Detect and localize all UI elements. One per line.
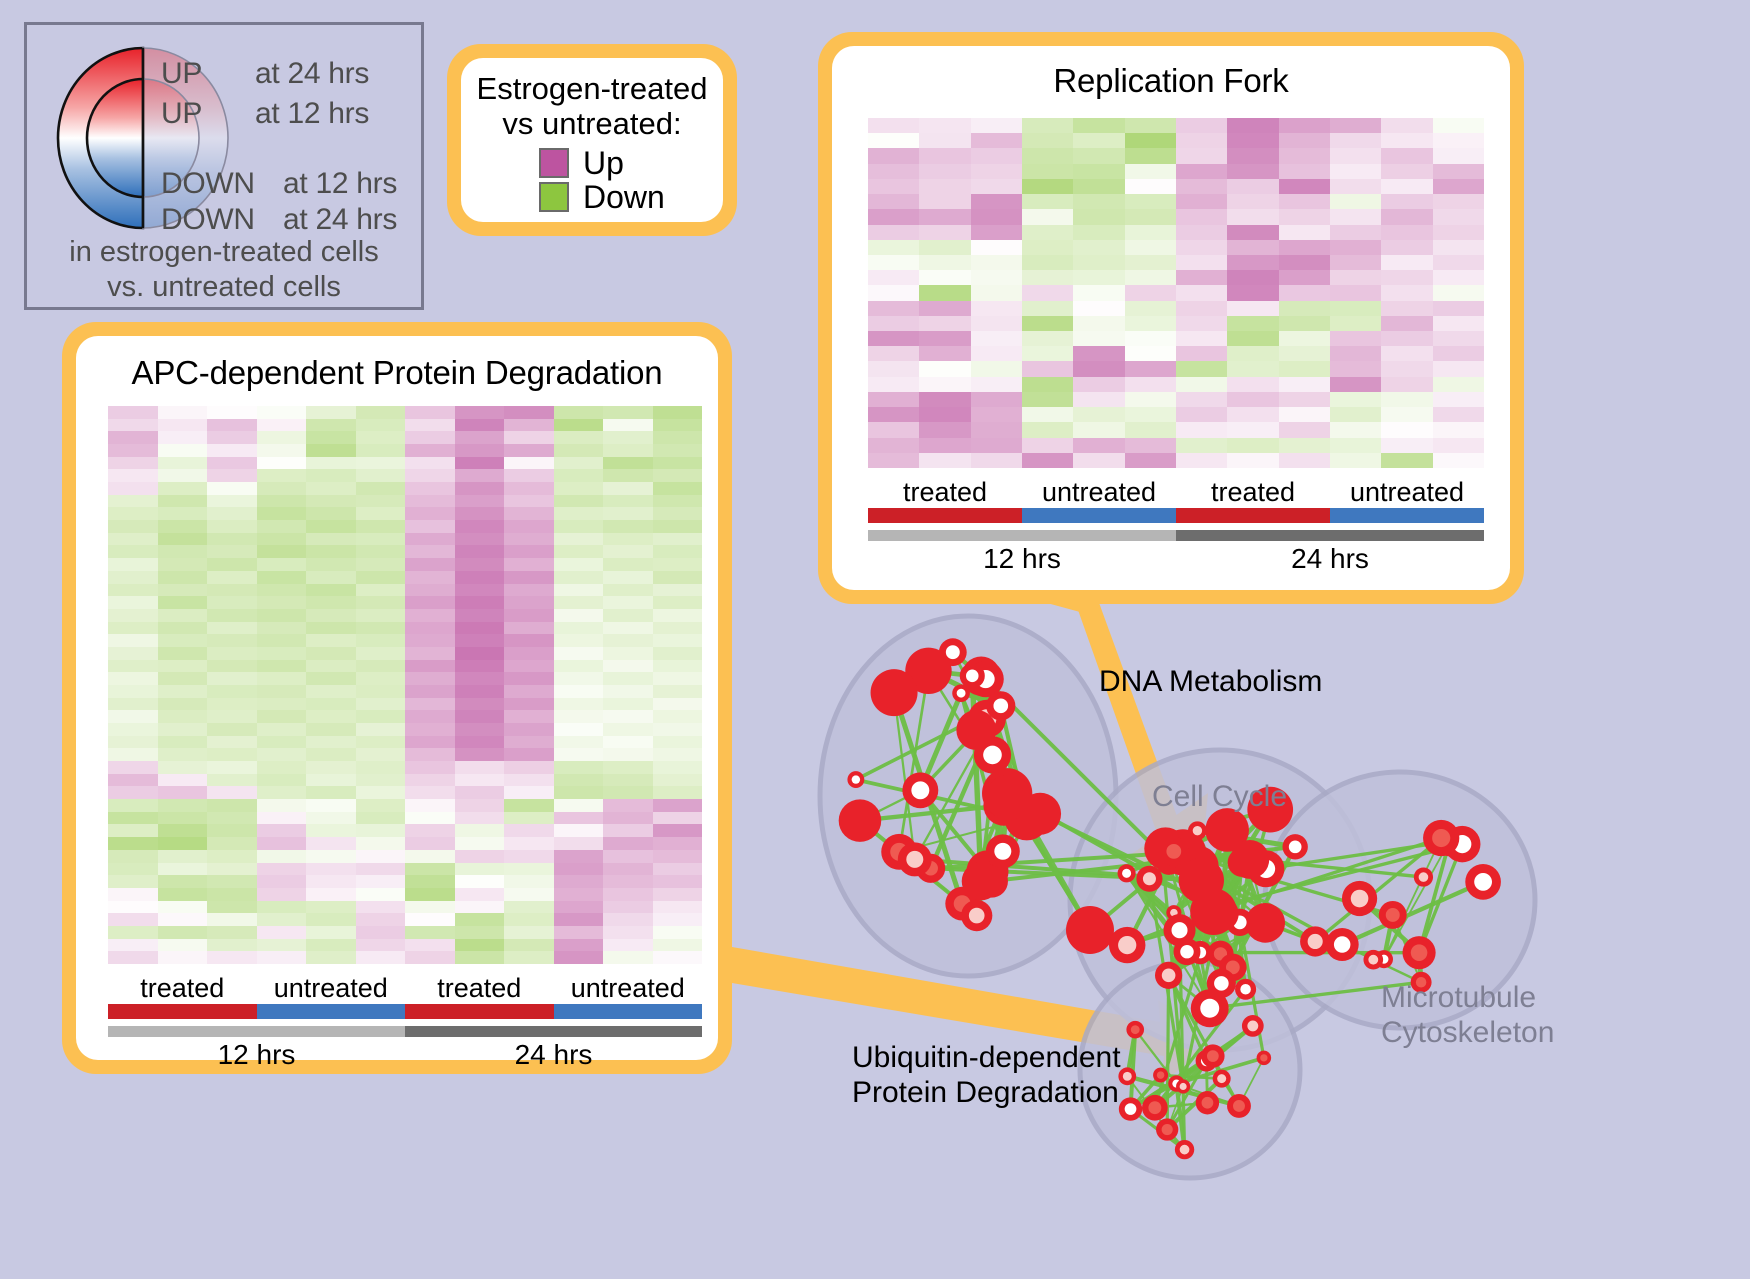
heatmap-cell: [108, 672, 158, 685]
heatmap-cell: [207, 406, 257, 419]
heatmap-cell: [207, 913, 257, 926]
heatmap-cell: [504, 672, 554, 685]
heatmap-cell: [1125, 164, 1176, 179]
heatmap-cell: [1279, 240, 1330, 255]
network-node[interactable]: [1207, 969, 1236, 998]
network-node[interactable]: [1230, 840, 1269, 879]
heatmap-cell: [1381, 377, 1432, 392]
legend-items: Up Down: [471, 147, 713, 213]
heatmap-cell: [971, 270, 1022, 285]
network-node[interactable]: [960, 663, 985, 688]
heatmap-cell: [1125, 407, 1176, 422]
heatmap-cell: [108, 888, 158, 901]
heatmap-cell: [1433, 438, 1484, 453]
heatmap-cell: [1176, 118, 1227, 133]
heatmap-cell: [1279, 270, 1330, 285]
heatmap-cell: [554, 533, 604, 546]
node-inner-core: [966, 670, 979, 683]
heatmap-cell: [1073, 407, 1124, 422]
heatmap-cell: [356, 457, 406, 470]
heatmap-cell: [504, 622, 554, 635]
heatmap-cell: [1433, 179, 1484, 194]
network-node[interactable]: [1119, 1097, 1142, 1120]
heatmap-cell: [603, 495, 653, 508]
network-node[interactable]: [1342, 881, 1377, 916]
heatmap-cell: [455, 710, 505, 723]
heatmap-cell: [108, 723, 158, 736]
legend-item-down-label: Down: [583, 181, 665, 213]
heatmap-cell: [1330, 285, 1381, 300]
heatmap-cell: [405, 507, 455, 520]
node-inner-core: [1233, 1100, 1245, 1112]
heatmap-cell: [455, 837, 505, 850]
network-node[interactable]: [1175, 1140, 1194, 1159]
time-label-24hrs: 24 hrs: [405, 1039, 702, 1071]
heatmap-cell: [1227, 148, 1278, 163]
heatmap-cell: [1073, 438, 1124, 453]
network-node[interactable]: [1402, 936, 1435, 969]
node-inner-core: [1193, 826, 1202, 835]
network-node[interactable]: [839, 799, 882, 842]
heatmap-cell: [1227, 179, 1278, 194]
heatmap-cell: [1227, 407, 1278, 422]
heatmap-cell: [158, 698, 208, 711]
heatmap-cell: [356, 520, 406, 533]
heatmap-cell: [158, 672, 208, 685]
replication-fork-condition-bars: [868, 508, 1484, 523]
node-inner-core: [1214, 976, 1229, 991]
heatmap-cell: [1227, 270, 1278, 285]
heatmap-cell: [405, 482, 455, 495]
network-node[interactable]: [1156, 1118, 1178, 1140]
heatmap-cell: [1381, 255, 1432, 270]
heatmap-cell: [919, 407, 970, 422]
node-outer-ring: [1019, 793, 1061, 835]
heatmap-cell: [554, 913, 604, 926]
heatmap-cell: [108, 584, 158, 597]
heatmap-cell: [1176, 270, 1227, 285]
heatmap-cell: [158, 939, 208, 952]
heatmap-cell: [257, 812, 307, 825]
heatmap-cell: [356, 622, 406, 635]
network-node[interactable]: [961, 900, 992, 931]
heatmap-cell: [1279, 392, 1330, 407]
heatmap-cell: [504, 812, 554, 825]
heatmap-cell: [356, 495, 406, 508]
heatmap-cell: [306, 736, 356, 749]
heatmap-cell: [405, 596, 455, 609]
heatmap-cell: [306, 850, 356, 863]
network-node[interactable]: [847, 771, 864, 788]
heatmap-cell: [504, 761, 554, 774]
heatmap-cell: [1125, 377, 1176, 392]
network-node[interactable]: [1363, 950, 1383, 970]
heatmap-cell: [1073, 285, 1124, 300]
heatmap-cell: [971, 377, 1022, 392]
heatmap-cell: [207, 507, 257, 520]
heatmap-cell: [554, 812, 604, 825]
heatmap-cell: [356, 710, 406, 723]
node-inner-core: [1157, 1071, 1165, 1079]
heatmap-cell: [504, 584, 554, 597]
network-node[interactable]: [1159, 837, 1189, 867]
heatmap-cell: [1073, 133, 1124, 148]
heatmap-cell: [108, 698, 158, 711]
heatmap-cell: [653, 901, 703, 914]
heatmap-cell: [306, 901, 356, 914]
network-node[interactable]: [1126, 1021, 1144, 1039]
heatmap-cell: [356, 913, 406, 926]
heatmap-cell: [306, 863, 356, 876]
heatmap-cell: [356, 698, 406, 711]
network-node[interactable]: [1379, 901, 1407, 929]
heatmap-cell: [919, 270, 970, 285]
heatmap-cell: [158, 926, 208, 939]
network-node[interactable]: [1163, 914, 1195, 946]
legend-item-up-label: Up: [583, 147, 624, 179]
heatmap-cell: [1279, 148, 1330, 163]
heatmap-cell: [868, 179, 919, 194]
heatmap-cell: [653, 761, 703, 774]
network-node[interactable]: [1201, 1044, 1224, 1067]
heatmap-cell: [108, 419, 158, 432]
network-node[interactable]: [1188, 821, 1207, 840]
network-node[interactable]: [902, 772, 938, 808]
heatmap-cell: [1279, 438, 1330, 453]
heatmap-cell: [306, 419, 356, 432]
heatmap-cell: [108, 812, 158, 825]
network-node[interactable]: [1423, 820, 1459, 856]
node-inner-core: [1386, 908, 1400, 922]
network-node[interactable]: [1153, 1068, 1168, 1083]
heatmap-cell: [1279, 164, 1330, 179]
heatmap-cell: [1330, 118, 1381, 133]
heatmap-cell: [554, 863, 604, 876]
heatmap-cell: [306, 748, 356, 761]
heatmap-cell: [306, 431, 356, 444]
heatmap-cell: [455, 748, 505, 761]
heatmap-cell: [504, 596, 554, 609]
heatmap-cell: [158, 431, 208, 444]
heatmap-cell: [653, 939, 703, 952]
heatmap-cell: [603, 786, 653, 799]
heatmap-cell: [108, 761, 158, 774]
network-node[interactable]: [1179, 858, 1224, 903]
heatmap-cell: [257, 419, 307, 432]
heatmap-cell: [108, 660, 158, 673]
heatmap-cell: [257, 951, 307, 964]
heatmap-cell: [207, 469, 257, 482]
network-node[interactable]: [1109, 927, 1145, 963]
heatmap-cell: [405, 901, 455, 914]
apc-condition-labels: treated untreated treated untreated: [108, 974, 702, 1004]
network-node[interactable]: [1282, 834, 1307, 859]
heatmap-cell: [356, 672, 406, 685]
heatmap-cell: [554, 901, 604, 914]
network-node[interactable]: [1136, 866, 1162, 892]
condition-bar-treated-24: [1176, 508, 1330, 523]
heatmap-cell: [108, 939, 158, 952]
heatmap-cell: [554, 888, 604, 901]
heatmap-cell: [504, 444, 554, 457]
heatmap-cell: [405, 457, 455, 470]
heatmap-cell: [971, 361, 1022, 376]
network-node[interactable]: [986, 834, 1020, 868]
network-node[interactable]: [1235, 979, 1256, 1000]
heatmap-cell: [207, 444, 257, 457]
heatmap-cell: [603, 951, 653, 964]
heatmap-cell: [1381, 240, 1432, 255]
heatmap-cell: [306, 774, 356, 787]
network-node[interactable]: [1196, 1091, 1219, 1114]
heatmap-cell: [207, 571, 257, 584]
apc-time-labels: 12 hrs 24 hrs: [108, 1039, 702, 1071]
heatmap-cell: [405, 850, 455, 863]
heatmap-cell: [554, 469, 604, 482]
heatmap-cell: [504, 723, 554, 736]
heatmap-cell: [405, 837, 455, 850]
heatmap-cell: [504, 774, 554, 787]
node-inner-core: [1368, 955, 1378, 965]
network-node[interactable]: [1257, 1051, 1272, 1066]
node-inner-core: [1118, 936, 1136, 954]
heatmap-cell: [504, 875, 554, 888]
heatmap-cell: [971, 285, 1022, 300]
heatmap-cell: [356, 647, 406, 660]
node-inner-core: [1180, 945, 1193, 958]
network-node[interactable]: [1176, 1079, 1190, 1093]
network-node[interactable]: [1142, 1095, 1168, 1121]
heatmap-cell: [1433, 225, 1484, 240]
heatmap-cell: [158, 837, 208, 850]
network-node[interactable]: [1227, 1094, 1251, 1118]
heatmap-cell: [1073, 331, 1124, 346]
heatmap-cell: [504, 901, 554, 914]
replication-fork-time-labels: 12 hrs 24 hrs: [868, 543, 1484, 575]
heatmap-cell: [1227, 133, 1278, 148]
heatmap-cell: [257, 901, 307, 914]
heatmap-cell: [1330, 331, 1381, 346]
heatmap-cell: [1176, 346, 1227, 361]
heatmap-cell: [1381, 392, 1432, 407]
heatmap-cell: [504, 748, 554, 761]
heatmap-cell: [207, 812, 257, 825]
network-node[interactable]: [1213, 1070, 1231, 1088]
heatmap-cell: [919, 453, 970, 468]
heatmap-cell: [455, 698, 505, 711]
heatmap-cell: [1279, 179, 1330, 194]
heatmap-cell: [603, 926, 653, 939]
heatmap-cell: [405, 685, 455, 698]
network-node[interactable]: [986, 691, 1015, 720]
heatmap-cell: [1381, 270, 1432, 285]
condition-bar-untreated-12: [257, 1004, 406, 1019]
heatmap-cell: [504, 520, 554, 533]
node-inner-core: [957, 689, 966, 698]
heatmap-cell: [504, 431, 554, 444]
heatmap-cell: [257, 622, 307, 635]
heatmap-cell: [554, 875, 604, 888]
node-inner-core: [946, 645, 960, 659]
heatmap-cell: [919, 194, 970, 209]
heatmap-cell: [158, 824, 208, 837]
network-node[interactable]: [962, 862, 1000, 900]
heatmap-cell: [971, 301, 1022, 316]
heatmap-cell: [405, 875, 455, 888]
heatmap-cell: [158, 786, 208, 799]
heatmap-cell: [1433, 361, 1484, 376]
heatmap-cell: [1073, 194, 1124, 209]
heatmap-cell: [1433, 270, 1484, 285]
heatmap-cell: [603, 723, 653, 736]
network-node[interactable]: [898, 842, 932, 876]
heatmap-cell: [108, 748, 158, 761]
heatmap-cell: [603, 609, 653, 622]
heatmap-cell: [405, 533, 455, 546]
heatmap-cell: [356, 545, 406, 558]
network-node[interactable]: [1155, 962, 1182, 989]
heatmap-cell: [257, 634, 307, 647]
time-label-12hrs: 12 hrs: [868, 543, 1176, 575]
network-node[interactable]: [1242, 1015, 1264, 1037]
node-inner-core: [1123, 1072, 1132, 1081]
heatmap-cell: [257, 888, 307, 901]
heatmap-cell: [207, 685, 257, 698]
heatmap-cell: [356, 609, 406, 622]
heatmap-cell: [455, 685, 505, 698]
heatmap-cell: [1125, 438, 1176, 453]
heatmap-cell: [257, 748, 307, 761]
heatmap-cell: [554, 799, 604, 812]
heatmap-cell: [653, 926, 703, 939]
node-inner-core: [1202, 1097, 1214, 1109]
heatmap-cell: [108, 457, 158, 470]
node-inner-core: [1308, 934, 1323, 949]
heatmap-cell: [1433, 285, 1484, 300]
wheel-row-0-time: at 24 hrs: [255, 57, 369, 91]
heatmap-cell: [405, 710, 455, 723]
heatmap-cell: [653, 786, 703, 799]
heatmap-cell: [868, 255, 919, 270]
heatmap-cell: [971, 240, 1022, 255]
node-inner-core: [1172, 922, 1188, 938]
heatmap-cell: [306, 507, 356, 520]
heatmap-cell: [207, 495, 257, 508]
heatmap-cell: [1381, 331, 1432, 346]
network-node[interactable]: [974, 736, 1011, 773]
heatmap-cell: [356, 926, 406, 939]
network-node[interactable]: [871, 669, 918, 716]
network-node[interactable]: [939, 638, 967, 666]
heatmap-cell: [603, 545, 653, 558]
heatmap-cell: [1125, 209, 1176, 224]
network-node[interactable]: [1019, 793, 1061, 835]
heatmap-cell: [306, 761, 356, 774]
legend-title: Estrogen-treated vs untreated:: [471, 72, 713, 141]
heatmap-cell: [1176, 225, 1227, 240]
network-node[interactable]: [1414, 867, 1433, 886]
network-node[interactable]: [1326, 928, 1359, 961]
heatmap-cell: [1176, 209, 1227, 224]
heatmap-cell: [554, 457, 604, 470]
heatmap-cell: [1381, 407, 1432, 422]
heatmap-cell: [653, 913, 703, 926]
heatmap-cell: [108, 647, 158, 660]
heatmap-cell: [1381, 133, 1432, 148]
heatmap-cell: [405, 444, 455, 457]
node-inner-core: [1260, 1054, 1267, 1061]
node-inner-core: [911, 781, 929, 799]
network-node[interactable]: [1066, 906, 1114, 954]
heatmap-cell: [158, 419, 208, 432]
heatmap-cell: [603, 584, 653, 597]
heatmap-cell: [919, 316, 970, 331]
heatmap-cell: [158, 748, 208, 761]
replication-fork-condition-labels: treated untreated treated untreated: [868, 478, 1484, 508]
replication-fork-heatmap: [868, 118, 1484, 468]
heatmap-cell: [108, 431, 158, 444]
heatmap-cell: [971, 118, 1022, 133]
heatmap-cell: [653, 837, 703, 850]
network-node[interactable]: [1465, 864, 1501, 900]
heatmap-cell: [306, 824, 356, 837]
heatmap-cell: [257, 533, 307, 546]
heatmap-cell: [1227, 316, 1278, 331]
heatmap-cell: [554, 698, 604, 711]
legend-title-line2: vs untreated:: [471, 107, 713, 142]
heatmap-cell: [919, 118, 970, 133]
heatmap-cell: [1330, 392, 1381, 407]
heatmap-cell: [868, 438, 919, 453]
apc-panel-title: APC-dependent Protein Degradation: [76, 336, 718, 392]
heatmap-cell: [455, 913, 505, 926]
heatmap-cell: [653, 863, 703, 876]
heatmap-cell: [653, 507, 703, 520]
heatmap-cell: [1279, 301, 1330, 316]
heatmap-cell: [554, 406, 604, 419]
heatmap-cell: [1330, 164, 1381, 179]
heatmap-cell: [306, 482, 356, 495]
heatmap-cell: [603, 444, 653, 457]
heatmap-cell: [1022, 194, 1073, 209]
heatmap-cell: [653, 710, 703, 723]
network-node[interactable]: [1118, 864, 1136, 882]
heatmap-cell: [257, 647, 307, 660]
heatmap-cell: [108, 736, 158, 749]
heatmap-cell: [1227, 118, 1278, 133]
heatmap-cell: [504, 495, 554, 508]
apc-condition-bars: [108, 1004, 702, 1019]
heatmap-cell: [868, 133, 919, 148]
down-color-swatch: [539, 182, 569, 212]
heatmap-cell: [554, 520, 604, 533]
heatmap-cell: [108, 507, 158, 520]
network-node[interactable]: [1300, 926, 1330, 956]
heatmap-cell: [1227, 331, 1278, 346]
heatmap-cell: [653, 596, 703, 609]
heatmap-cell: [356, 596, 406, 609]
heatmap-cell: [603, 939, 653, 952]
heatmap-cell: [1125, 179, 1176, 194]
network-node[interactable]: [1118, 1067, 1136, 1085]
heatmap-cell: [158, 444, 208, 457]
heatmap-cell: [603, 824, 653, 837]
heatmap-cell: [868, 164, 919, 179]
heatmap-cell: [1022, 148, 1073, 163]
time-bar-24hrs: [1176, 530, 1484, 541]
heatmap-cell: [257, 457, 307, 470]
node-inner-core: [1162, 1124, 1173, 1135]
